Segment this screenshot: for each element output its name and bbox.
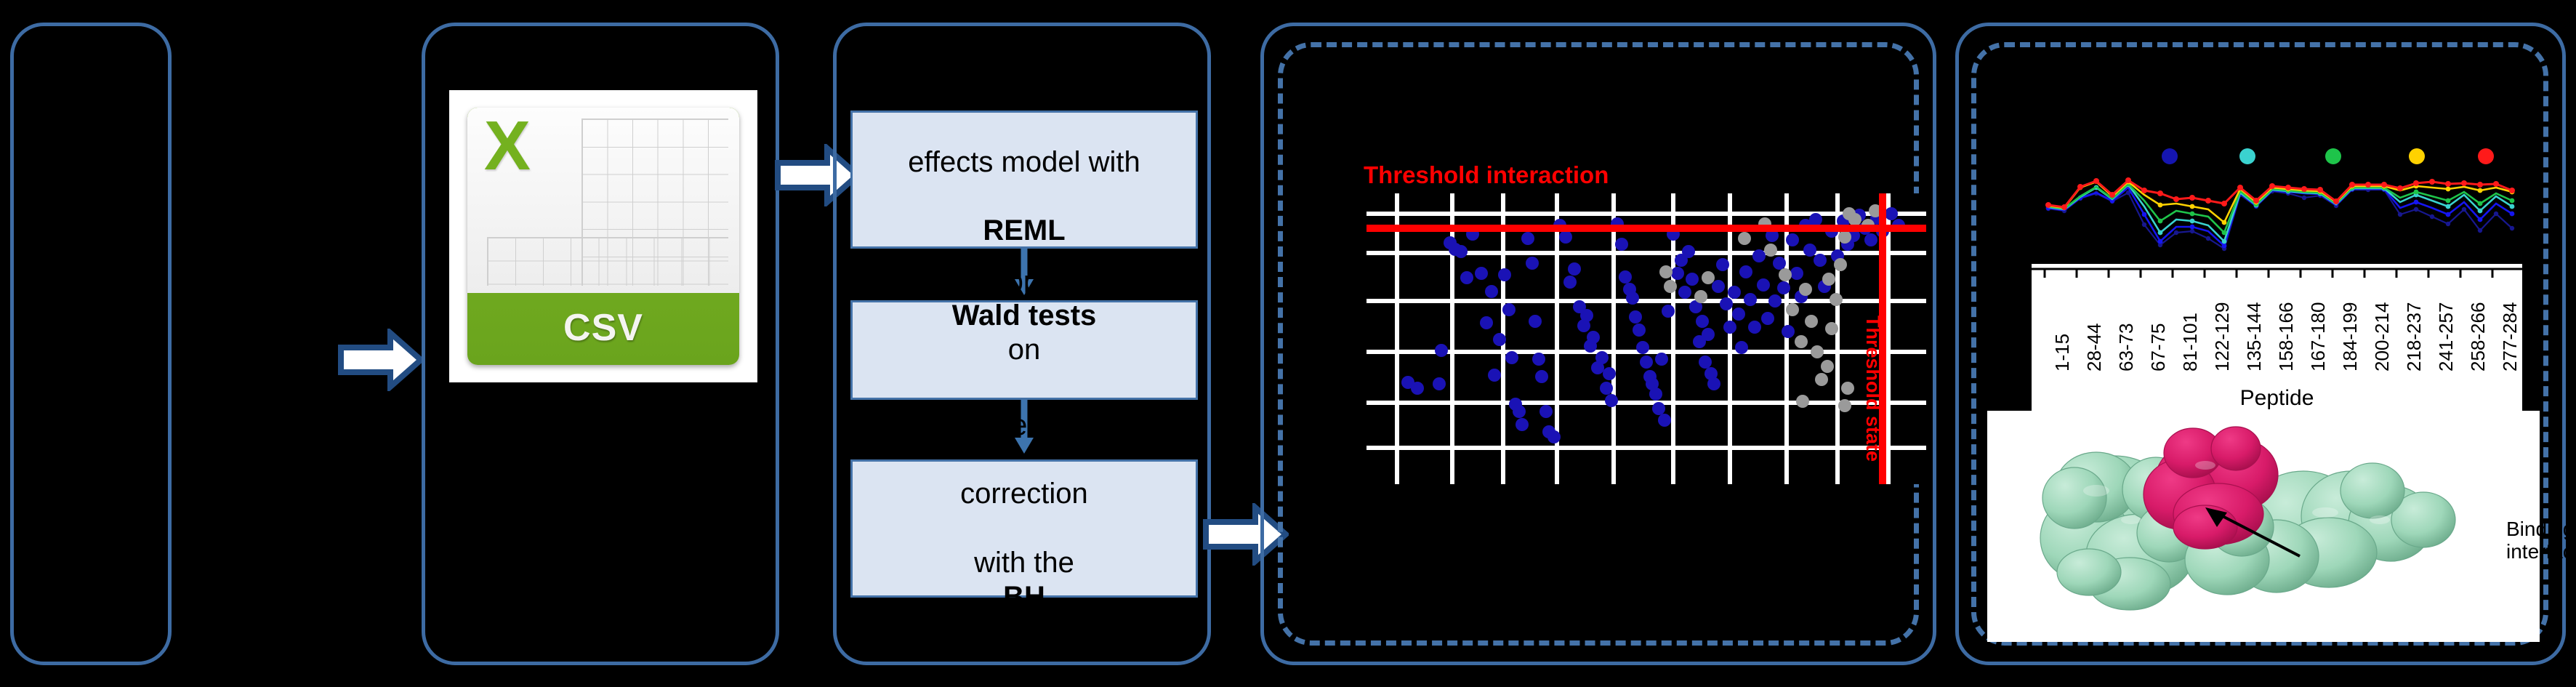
protein-structure-image	[1987, 411, 2540, 642]
peptide-tick-label: 122-129	[2211, 302, 2234, 371]
peptide-chart-legend	[2086, 138, 2442, 167]
csv-icon-label: CSV	[467, 293, 738, 363]
scatter-plot-title: Threshold interaction	[1364, 161, 1609, 189]
peptide-tick-label: 28-44	[2083, 324, 2106, 372]
peptide-tick-label: 218-237	[2403, 302, 2426, 371]
peptide-tick-label: 200-214	[2371, 302, 2394, 371]
peptide-tick-label: 167-180	[2307, 302, 2330, 371]
peptide-tick-label: 277-284	[2499, 302, 2521, 371]
peptide-line-chart	[2042, 169, 2522, 265]
binding-interface-line1: Binding	[2506, 518, 2576, 540]
peptide-axis-region: 1-1528-4463-7367-7581-101122-129135-1441…	[2032, 264, 2522, 421]
peptide-axis-title: Peptide	[2032, 386, 2522, 411]
scatter-plot	[1367, 193, 1926, 484]
csv-icon-body: X CSV	[467, 108, 738, 365]
excel-x-glyph: X	[484, 111, 531, 181]
peptide-tick-labels: 1-1528-4463-7367-7581-101122-129135-1441…	[2032, 264, 2522, 373]
peptide-tick-label: 1-15	[2051, 334, 2074, 371]
peptide-tick-label: 158-166	[2275, 302, 2298, 371]
peptide-tick-label: 135-144	[2243, 302, 2266, 371]
scatter-plot-svg	[1367, 193, 1926, 484]
peptide-chart-ytick: 0.01	[1993, 231, 2032, 254]
csv-file-icon: X CSV	[449, 90, 757, 382]
peptide-tick-label: 241-257	[2435, 302, 2458, 371]
csv-grid-secondary	[487, 237, 728, 285]
peptide-tick-label: 258-266	[2467, 302, 2490, 371]
peptide-tick-label: 184-199	[2339, 302, 2362, 371]
peptide-tick-label: 67-75	[2147, 324, 2170, 372]
binding-interface-line2: interface	[2506, 540, 2576, 563]
input-panel	[10, 23, 172, 665]
step-bh-correction-text: Multiple testingcorrectionwith the BH pr…	[919, 409, 1130, 648]
protein-structure-svg	[1987, 411, 2540, 642]
binding-interface-label: Binding interface	[2506, 518, 2576, 563]
threshold-state-label: Threshold state	[1861, 316, 1884, 462]
peptide-tick-label: 81-101	[2179, 313, 2202, 371]
peptide-line-chart-svg	[2042, 169, 2522, 265]
inlet-arrow	[338, 329, 424, 391]
step-bh-correction: Multiple testingcorrectionwith the BH pr…	[850, 459, 1198, 598]
peptide-tick-label: 63-73	[2115, 324, 2138, 372]
peptide-chart-legend-dot-red	[2471, 138, 2500, 167]
csv-sheet: X	[467, 108, 738, 293]
step-wald-tests: Apply Wald tests onthe model parameters	[850, 300, 1198, 400]
step-fit-model: Fit a linear mixed-effects model withREM…	[850, 111, 1198, 249]
